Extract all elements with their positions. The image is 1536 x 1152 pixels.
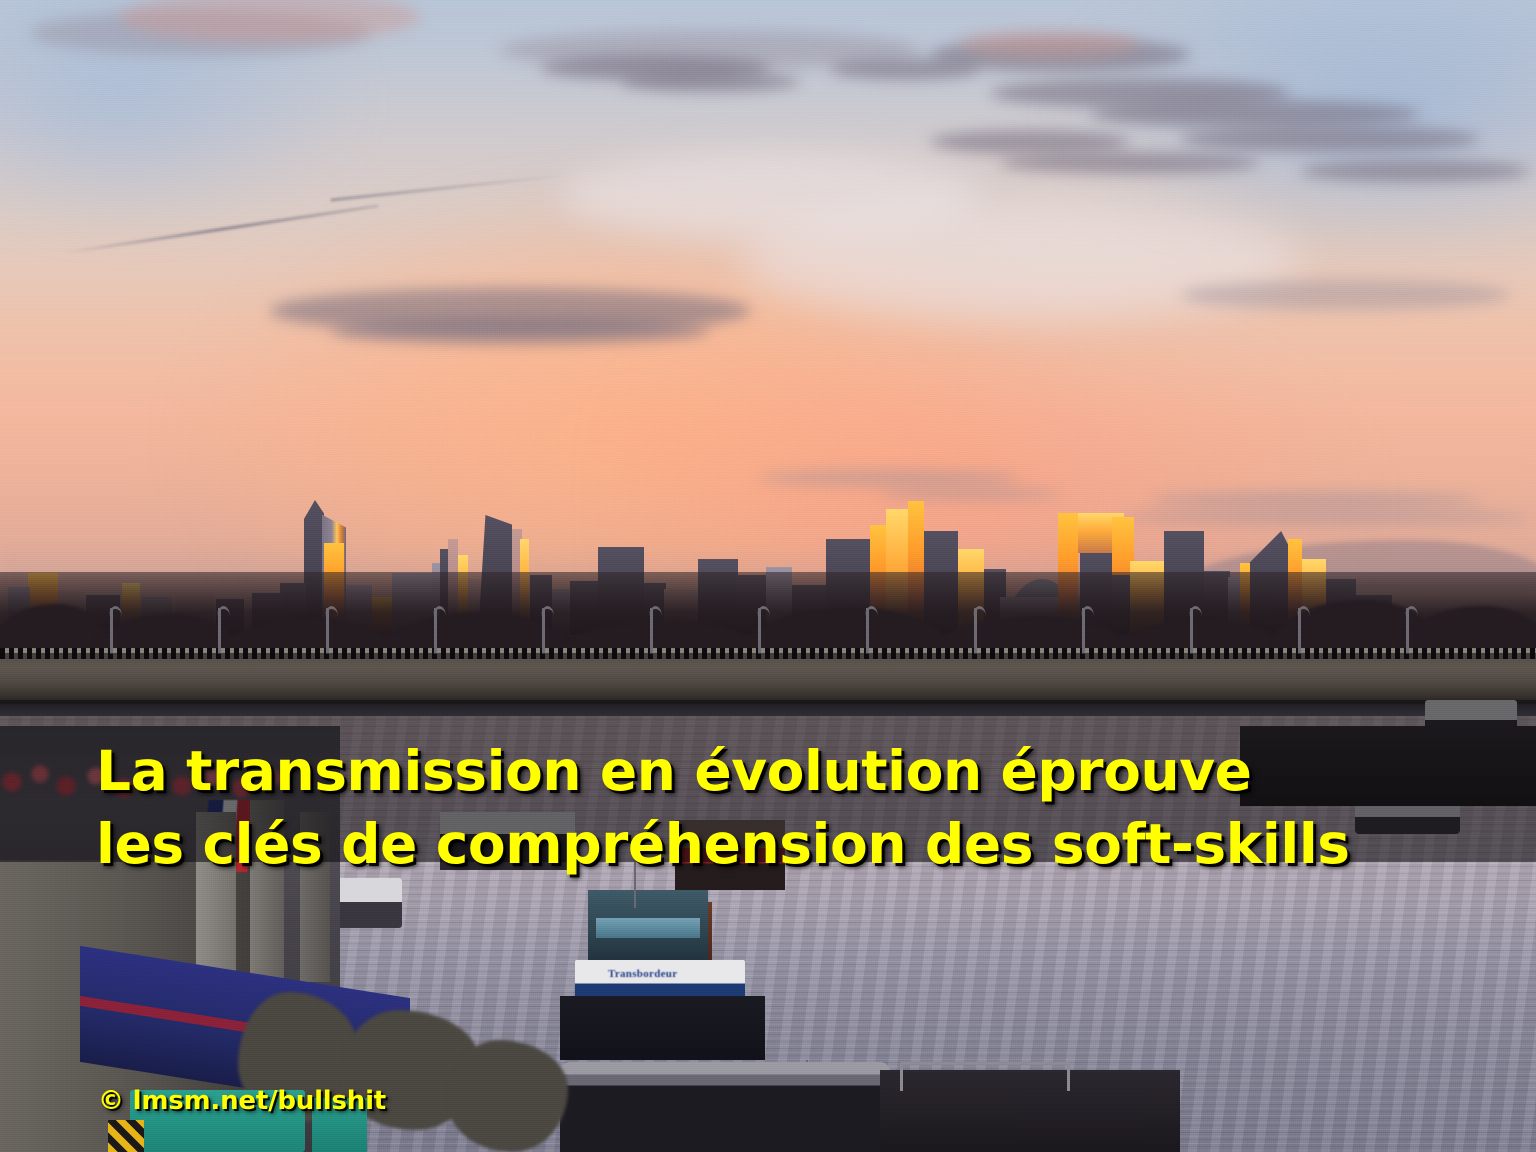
lamp-post	[650, 608, 653, 654]
lamp-post	[1406, 608, 1409, 654]
barge-name-label: Transbordeur	[608, 968, 677, 980]
lamp-post	[434, 608, 437, 654]
cloud	[330, 318, 710, 344]
cloud	[620, 72, 800, 92]
lamp-post	[218, 608, 221, 654]
headline-line-2: les clés de compréhension des soft-skill…	[96, 808, 1436, 881]
lamp-post	[866, 608, 869, 654]
lamp-post	[326, 608, 329, 654]
lamp-post	[974, 608, 977, 654]
barge-hull-dark	[560, 996, 765, 1060]
lamp-post	[1190, 608, 1193, 654]
cloud	[1180, 280, 1510, 310]
headline-line-1: La transmission en évolution éprouve	[96, 739, 1252, 803]
hazard-bollard	[108, 1120, 144, 1152]
cloud	[1000, 152, 1260, 174]
foreground-boat	[560, 1062, 890, 1152]
cloud	[1180, 126, 1480, 152]
lamp-post	[1298, 608, 1301, 654]
pontoon-rail	[900, 1062, 1070, 1088]
cloud	[1090, 100, 1420, 128]
headline: La transmission en évolution éprouve les…	[96, 662, 1436, 954]
lamp-post	[110, 608, 113, 654]
lamp-post	[1082, 608, 1085, 654]
lamp-post	[758, 608, 761, 654]
cloud	[960, 30, 1140, 58]
cloud	[1300, 160, 1530, 182]
cloud	[930, 130, 1130, 154]
copyright-credit: © lmsm.net/bullshit	[98, 1086, 386, 1116]
photo-canvas: Transbordeur La transmission en évolutio…	[0, 0, 1536, 1152]
rock	[448, 1040, 568, 1152]
lamp-post	[542, 608, 545, 654]
